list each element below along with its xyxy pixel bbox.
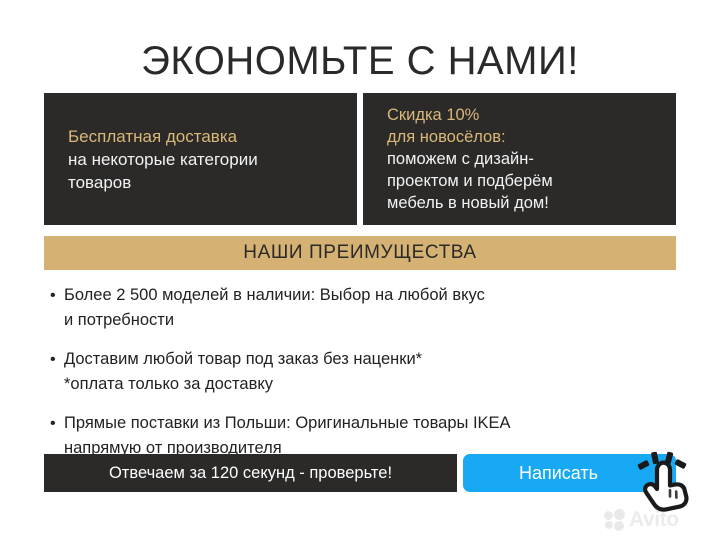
avito-logo-icon [604, 509, 626, 531]
list-item-text: Доставим любой товар под заказ без нацен… [64, 347, 422, 397]
promo-highlight: Бесплатная доставка [68, 125, 357, 148]
list-item-line: Доставим любой товар под заказ без нацен… [64, 347, 422, 372]
promo-body-line: поможем с дизайн- [387, 148, 676, 170]
promo-card-free-delivery: Бесплатная доставка на некоторые категор… [44, 93, 357, 225]
bullet-marker-icon: • [48, 283, 64, 308]
promo-body-line: мебель в новый дом! [387, 192, 676, 214]
response-time-banner: Отвечаем за 120 секунд - проверьте! [44, 454, 457, 492]
avito-watermark: Avito [604, 508, 712, 532]
write-message-button-label: Написать [519, 463, 620, 484]
promo-highlight-line: для новосёлов: [387, 126, 676, 148]
list-item-line: Прямые поставки из Польши: Оригинальные … [64, 411, 511, 436]
promo-row: Бесплатная доставка на некоторые категор… [44, 93, 676, 225]
avito-watermark-text: Avito [629, 509, 679, 531]
list-item: • Более 2 500 моделей в наличии: Выбор н… [48, 283, 688, 333]
promo-body-line: товаров [68, 171, 357, 194]
list-item: • Доставим любой товар под заказ без нац… [48, 347, 688, 397]
list-item-line: *оплата только за доставку [64, 372, 422, 397]
list-item-text: Более 2 500 моделей в наличии: Выбор на … [64, 283, 485, 333]
write-message-button[interactable]: Написать [463, 454, 676, 492]
cta-row: Отвечаем за 120 секунд - проверьте! Напи… [44, 454, 676, 492]
advantages-banner-label: НАШИ ПРЕИМУЩЕСТВА [243, 242, 476, 264]
promo-card-newcomer-discount: Скидка 10% для новосёлов: поможем с диза… [363, 93, 676, 225]
list-item-line: и потребности [64, 308, 485, 333]
advantages-list: • Более 2 500 моделей в наличии: Выбор н… [48, 283, 688, 475]
promo-body-line: на некоторые категории [68, 148, 357, 171]
bullet-marker-icon: • [48, 347, 64, 372]
bullet-marker-icon: • [48, 411, 64, 436]
promo-highlight-line: Скидка 10% [387, 104, 676, 126]
list-item-line: Более 2 500 моделей в наличии: Выбор на … [64, 283, 485, 308]
promo-body-line: проектом и подберём [387, 170, 676, 192]
ad-canvas: ЭКОНОМЬТЕ С НАМИ! Бесплатная доставка на… [0, 0, 720, 540]
page-title: ЭКОНОМЬТЕ С НАМИ! [0, 38, 720, 84]
response-time-text: Отвечаем за 120 секунд - проверьте! [109, 464, 392, 483]
advantages-banner: НАШИ ПРЕИМУЩЕСТВА [44, 236, 676, 270]
